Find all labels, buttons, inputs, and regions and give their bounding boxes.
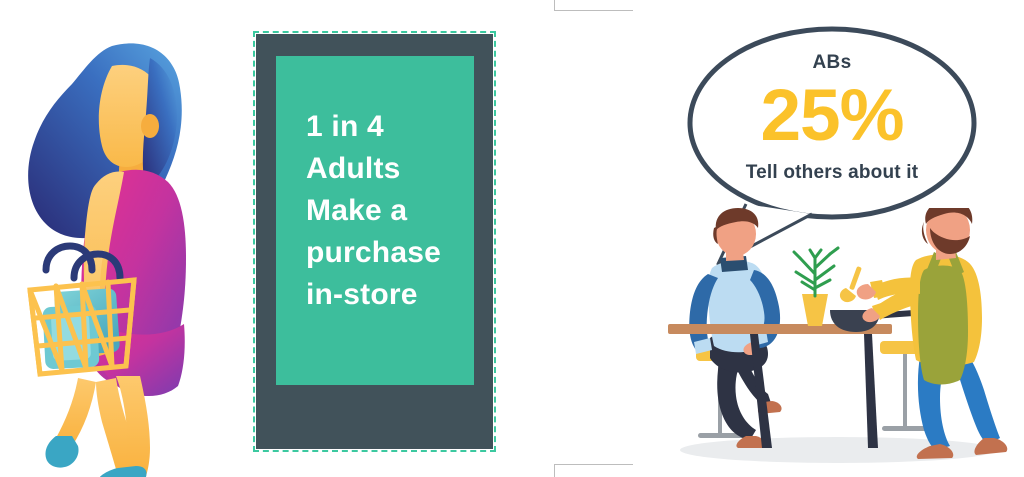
- woman-leg-lifted: [56, 378, 96, 446]
- table-leg-right: [864, 334, 878, 448]
- kiosk-screen: 1 in 4 Adults Make a purchase in-store: [276, 56, 474, 385]
- cooking-man-shoe-front: [974, 438, 1007, 455]
- woman-shoe-front: [100, 466, 147, 477]
- woman-ear: [141, 114, 159, 138]
- kiosk-sign[interactable]: 1 in 4 Adults Make a purchase in-store: [253, 31, 496, 452]
- plant-leaves: [794, 248, 838, 296]
- kiosk-headline-text: 1 in 4 Adults Make a purchase in-store: [306, 106, 476, 316]
- crop-mark-bottom: [554, 464, 633, 477]
- kiosk-frame: 1 in 4 Adults Make a purchase in-store: [256, 34, 493, 449]
- speech-bubble-stat: 25%: [684, 74, 980, 157]
- woman-shopper-illustration: [0, 18, 250, 477]
- woman-shoe-back: [45, 436, 78, 468]
- infographic-canvas: 1 in 4 Adults Make a purchase in-store A…: [0, 0, 1024, 477]
- cooking-man-apron: [918, 266, 968, 385]
- plant-pot: [802, 294, 828, 326]
- kitchen-scene-illustration: [668, 208, 1008, 470]
- crop-mark-top: [554, 0, 633, 11]
- speech-bubble-caption: Tell others about it: [684, 162, 980, 184]
- speech-bubble-label: ABs: [684, 52, 980, 74]
